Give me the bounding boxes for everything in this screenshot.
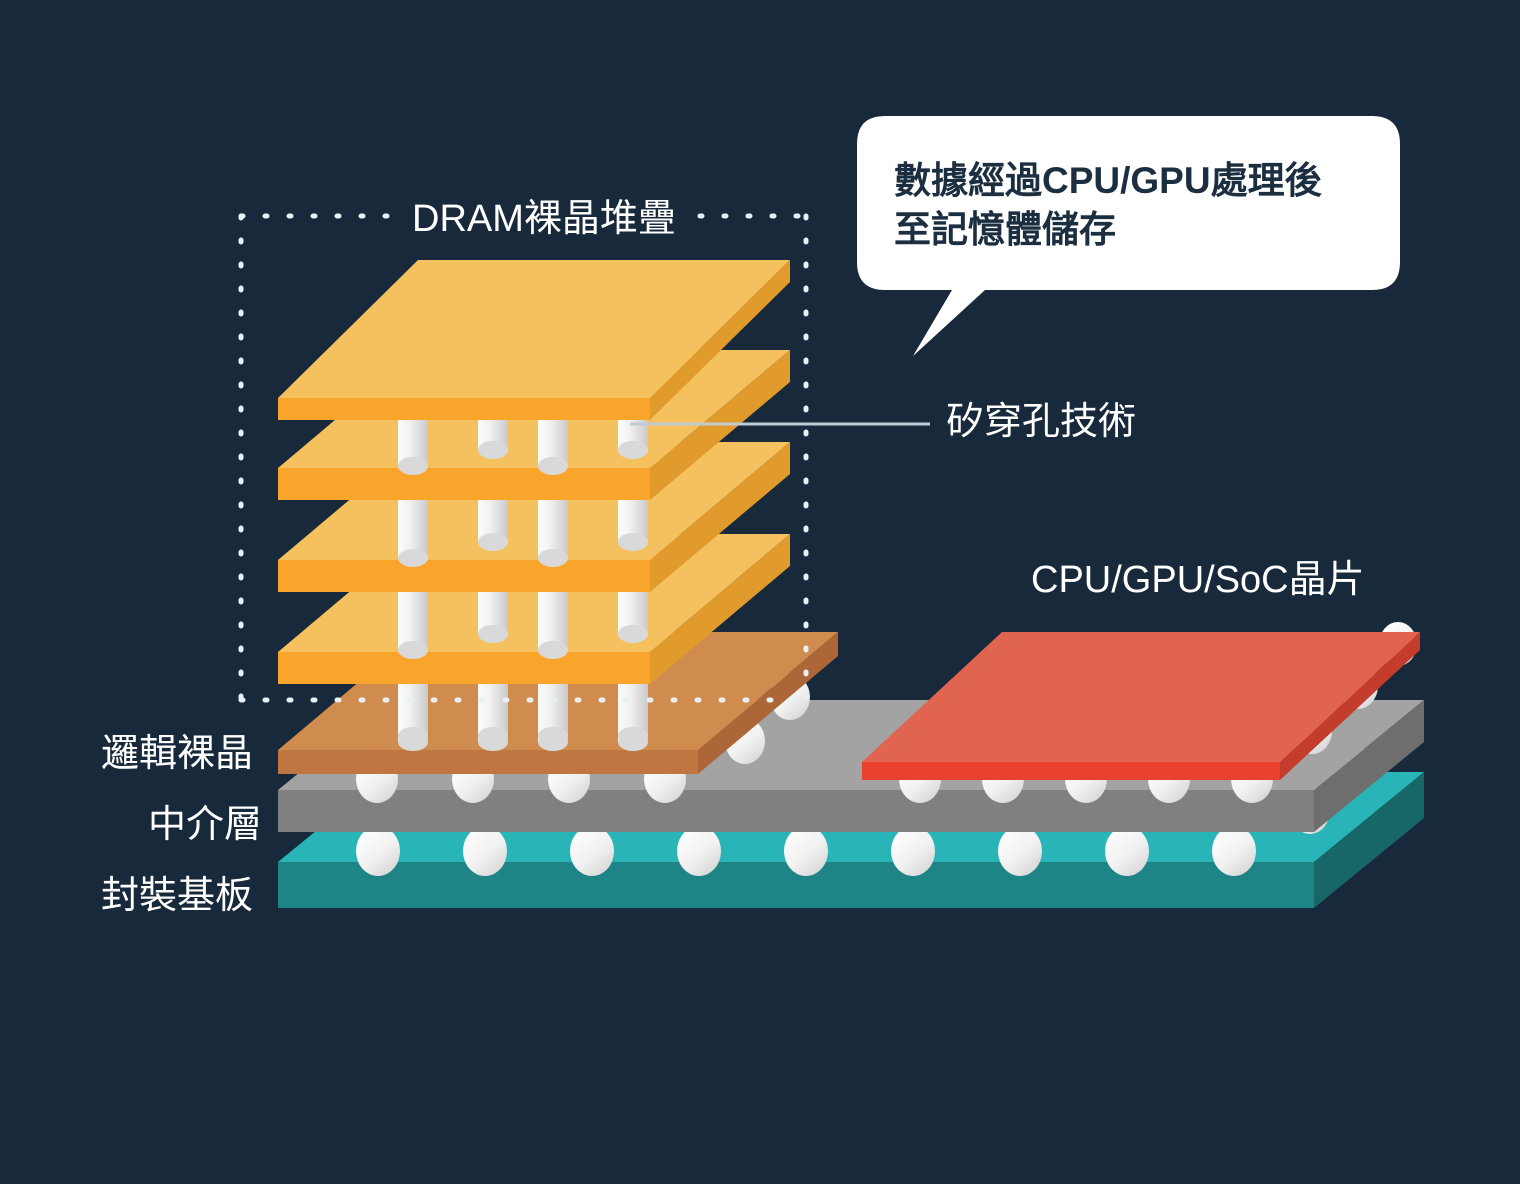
callout-text-line-2: 至記憶體儲存	[894, 206, 1394, 255]
callout-text: 數據經過CPU/GPU處理後 至記憶體儲存	[894, 157, 1394, 255]
diagram-canvas: DRAM裸晶堆疊 矽穿孔技術 CPU/GPU/SoC晶片 邏輯裸晶 中介層 封裝…	[0, 0, 1520, 1184]
callout-text-line-1: 數據經過CPU/GPU處理後	[894, 157, 1394, 206]
logic-die-label: 邏輯裸晶	[101, 735, 253, 773]
dram-stack-title-label: DRAM裸晶堆疊	[412, 200, 676, 238]
package-substrate-label: 封裝基板	[101, 877, 253, 915]
interposer-label: 中介層	[148, 806, 262, 844]
tsv-annotation-label: 矽穿孔技術	[946, 403, 1136, 441]
cpu-chip-annotation-label: CPU/GPU/SoC晶片	[1031, 561, 1365, 599]
